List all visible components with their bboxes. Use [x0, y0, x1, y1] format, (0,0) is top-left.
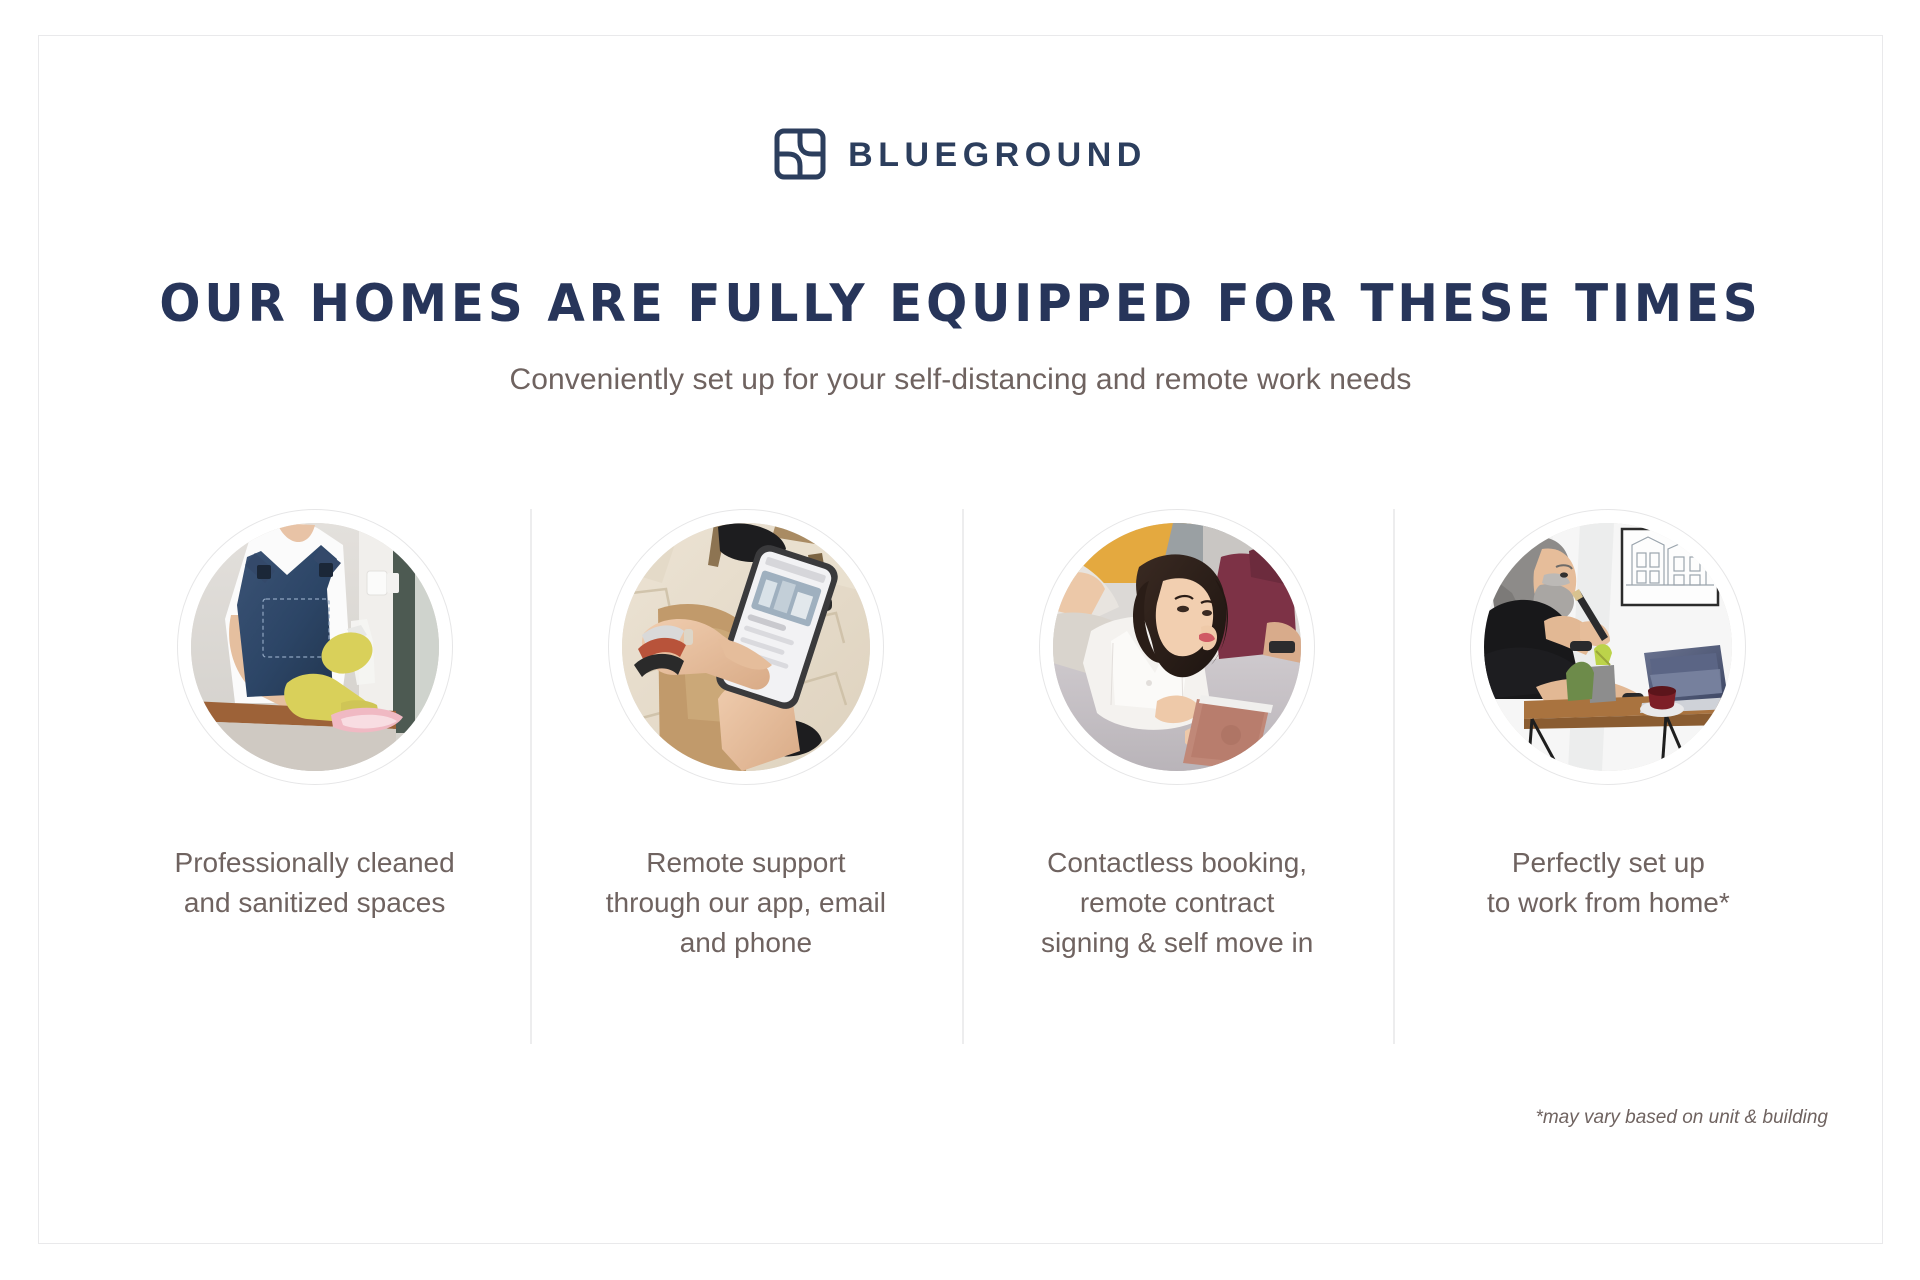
page-title: OUR HOMES ARE FULLY EQUIPPED FOR THESE T…: [104, 274, 1818, 334]
page-subtitle: Conveniently set up for your self-distan…: [39, 363, 1882, 397]
feature-item: Remote support through our app, email an…: [530, 509, 961, 962]
man-working-at-desk-photo: [1484, 523, 1732, 771]
footnote-disclaimer: *may vary based on unit & building: [1535, 1107, 1828, 1129]
poster-card: BLUEGROUND OUR HOMES ARE FULLY EQUIPPED …: [38, 35, 1883, 1244]
feature-caption: Perfectly set up to work from home*: [1487, 843, 1730, 923]
feature-item: Professionally cleaned and sanitized spa…: [99, 509, 530, 962]
feature-image-ring: [177, 509, 453, 785]
brand-lockup: BLUEGROUND: [39, 128, 1882, 180]
hands-using-phone-app-photo: [622, 523, 870, 771]
feature-image-ring: [1039, 509, 1315, 785]
brand-wordmark: BLUEGROUND: [848, 136, 1147, 172]
cleaner-wiping-counter-photo: [191, 523, 439, 771]
blueground-square-mark-icon: [774, 128, 826, 180]
feature-image-ring: [608, 509, 884, 785]
feature-image-ring: [1470, 509, 1746, 785]
feature-item: Contactless booking, remote contract sig…: [962, 509, 1393, 962]
woman-on-bed-with-tablet-photo: [1053, 523, 1301, 771]
feature-caption: Contactless booking, remote contract sig…: [1041, 843, 1313, 962]
feature-item: Perfectly set up to work from home*: [1393, 509, 1824, 962]
feature-caption: Professionally cleaned and sanitized spa…: [175, 843, 455, 923]
feature-caption: Remote support through our app, email an…: [606, 843, 886, 962]
feature-grid: Professionally cleaned and sanitized spa…: [99, 509, 1824, 962]
